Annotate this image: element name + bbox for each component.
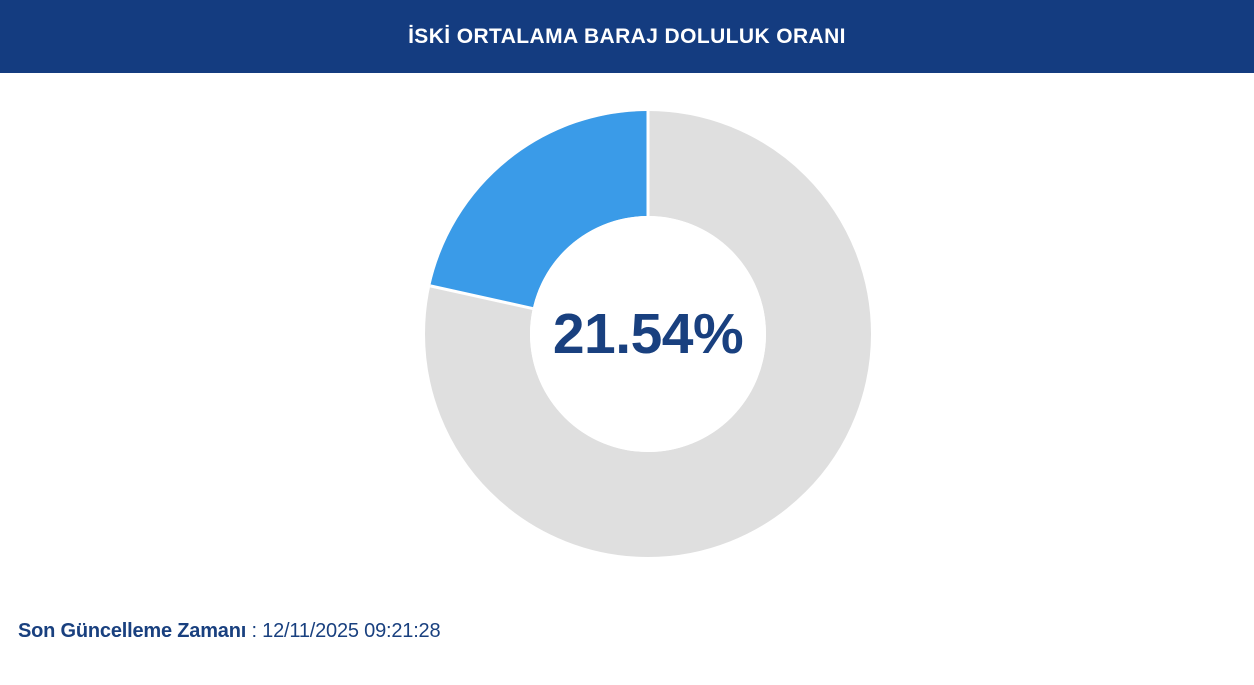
page-title: İSKİ ORTALAMA BARAJ DOLULUK ORANI (408, 26, 846, 47)
last-update-label: Son Güncelleme Zamanı (18, 620, 246, 642)
last-update-value: 12/11/2025 09:21:28 (262, 620, 440, 642)
last-update-separator: : (246, 620, 262, 642)
donut-hole (530, 216, 766, 452)
doluluk-orani-donut-chart: 21.54% (425, 111, 871, 557)
page-header: İSKİ ORTALAMA BARAJ DOLULUK ORANI (0, 0, 1254, 73)
donut-chart-svg (425, 111, 871, 557)
chart-area: 21.54% (0, 73, 1254, 603)
last-update-row: Son Güncelleme Zamanı : 12/11/2025 09:21… (18, 621, 440, 641)
